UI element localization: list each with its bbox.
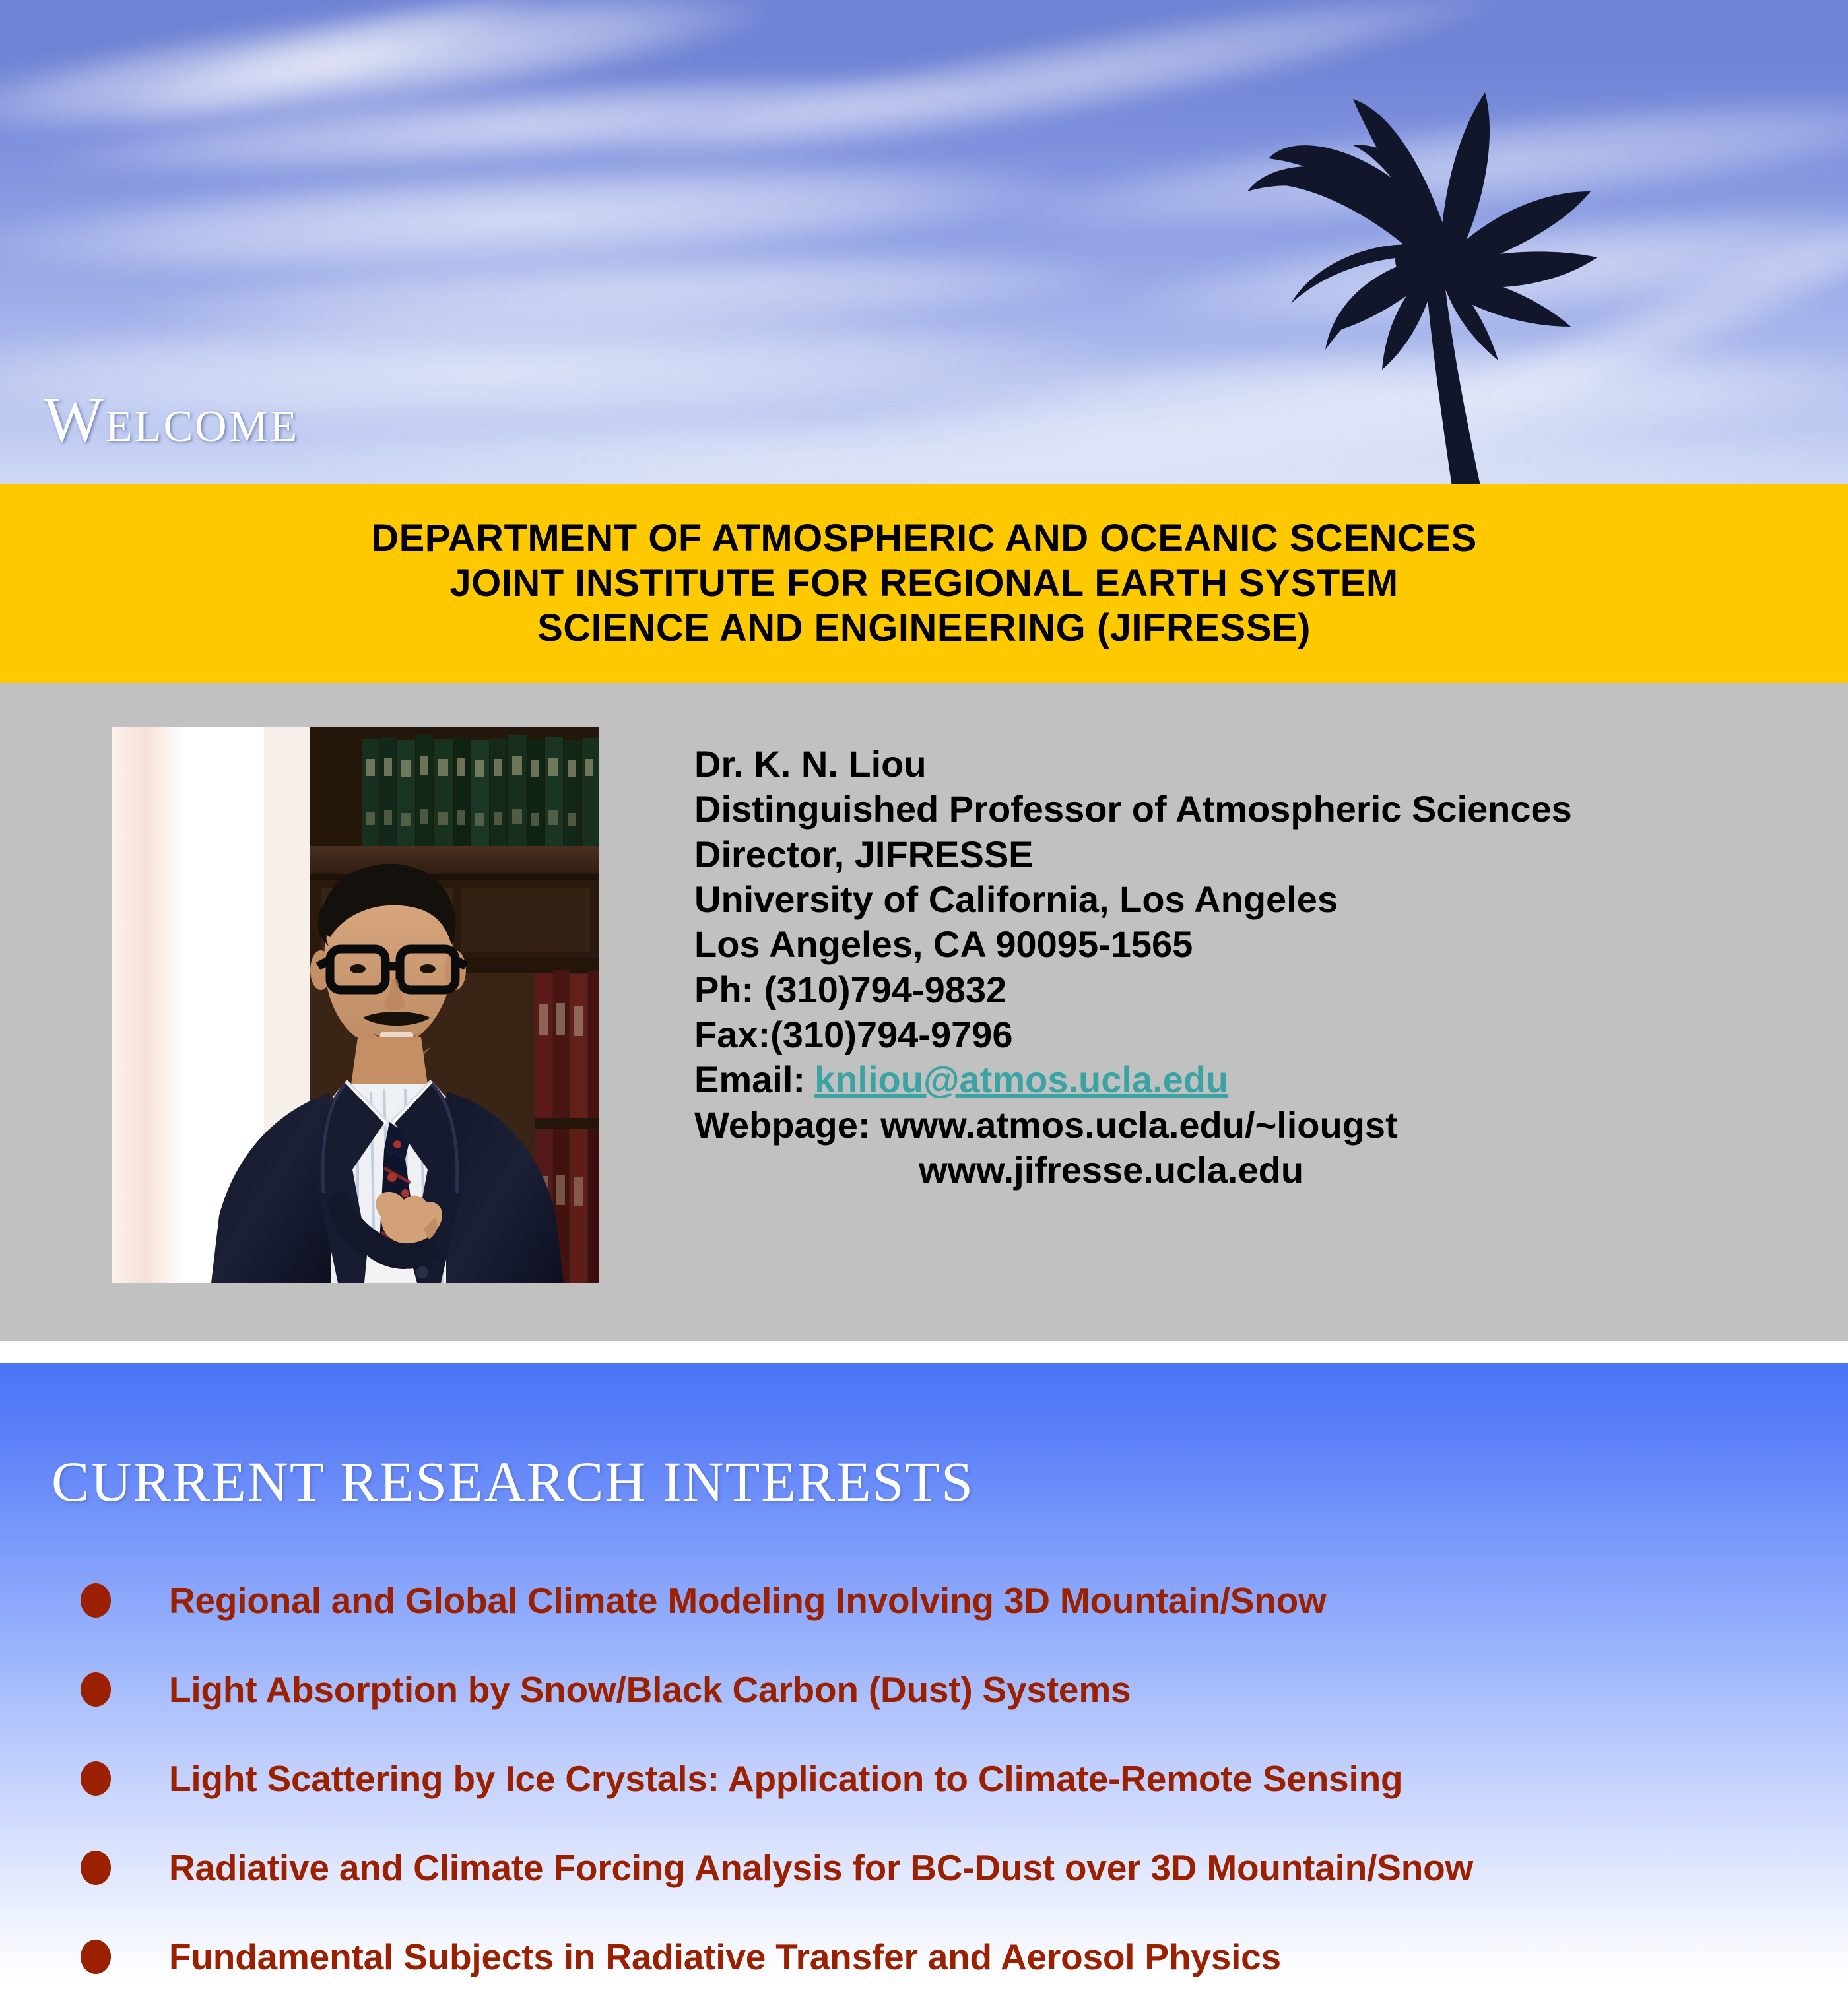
email-label: Email: <box>694 1057 805 1102</box>
list-item-label: Fundamental Subjects in Radiative Transf… <box>169 1936 1281 1978</box>
cloud-wisp-icon <box>100 0 560 148</box>
avatar <box>112 727 599 1283</box>
bullet-icon <box>81 1851 111 1885</box>
list-item-label: Regional and Global Climate Modeling Inv… <box>169 1579 1327 1622</box>
header-sky-banner: Welcome <box>0 0 1848 484</box>
contact-institution: University of California, Los Angeles <box>694 877 1816 922</box>
contact-webpage-secondary[interactable]: www.jifresse.ucla.edu <box>694 1148 1816 1193</box>
cloud-wisp-icon <box>38 51 1032 199</box>
research-interest-list: Regional and Global Climate Modeling Inv… <box>0 1556 1848 2001</box>
list-item-label: Radiative and Climate Forcing Analysis f… <box>169 1847 1473 1889</box>
department-line-3: SCIENCE AND ENGINEERING (JIFRESSE) <box>537 606 1311 651</box>
contact-phone: Ph: (310)794-9832 <box>694 968 1816 1012</box>
cloud-wisp-icon <box>131 234 1123 354</box>
list-item-label: Light Scattering by Ice Crystals: Applic… <box>169 1757 1402 1800</box>
contact-address: Los Angeles, CA 90095-1565 <box>694 922 1816 967</box>
bullet-icon <box>81 1761 111 1796</box>
list-item: Radiative and Climate Forcing Analysis f… <box>0 1823 1848 1912</box>
department-line-2: JOINT INSTITUTE FOR REGIONAL EARTH SYSTE… <box>449 561 1398 606</box>
contact-fax: Fax:(310)794-9796 <box>694 1012 1816 1057</box>
contact-details: Dr. K. N. Liou Distinguished Professor o… <box>694 742 1816 1193</box>
contact-role: Director, JIFRESSE <box>694 832 1816 877</box>
list-item: Light Scattering by Ice Crystals: Applic… <box>0 1734 1848 1823</box>
list-item: Light Absorption by Snow/Black Carbon (D… <box>0 1645 1848 1734</box>
list-item: Regional and Global Climate Modeling Inv… <box>0 1556 1848 1645</box>
palm-tree-icon <box>1115 0 1617 484</box>
email-link[interactable]: knliou@atmos.ucla.edu <box>814 1057 1228 1102</box>
department-line-1: DEPARTMENT OF ATMOSPHERIC AND OCEANIC SC… <box>371 516 1477 561</box>
research-interests-section: CURRENT RESEARCH INTERESTS Regional and … <box>0 1363 1848 1980</box>
list-item-label: Light Absorption by Snow/Black Carbon (D… <box>169 1668 1131 1711</box>
cloud-wisp-icon <box>0 0 781 164</box>
contact-webpage-primary[interactable]: Webpage: www.atmos.ucla.edu/~liougst <box>694 1103 1816 1148</box>
research-heading: CURRENT RESEARCH INTERESTS <box>51 1449 974 1515</box>
cloud-wisp-icon <box>0 136 1084 300</box>
portrait-frame <box>112 727 599 1283</box>
department-banner: DEPARTMENT OF ATMOSPHERIC AND OCEANIC SC… <box>0 484 1848 683</box>
bullet-icon <box>81 1583 111 1618</box>
bullet-icon <box>81 1672 111 1707</box>
contact-title: Distinguished Professor of Atmospheric S… <box>694 787 1816 832</box>
bullet-icon <box>81 1940 111 1974</box>
contact-name: Dr. K. N. Liou <box>694 742 1816 787</box>
page-title: Welcome <box>44 388 299 451</box>
list-item: Fundamental Subjects in Radiative Transf… <box>0 1912 1848 2001</box>
contact-email-row: Email: knliou@atmos.ucla.edu <box>694 1057 1816 1102</box>
